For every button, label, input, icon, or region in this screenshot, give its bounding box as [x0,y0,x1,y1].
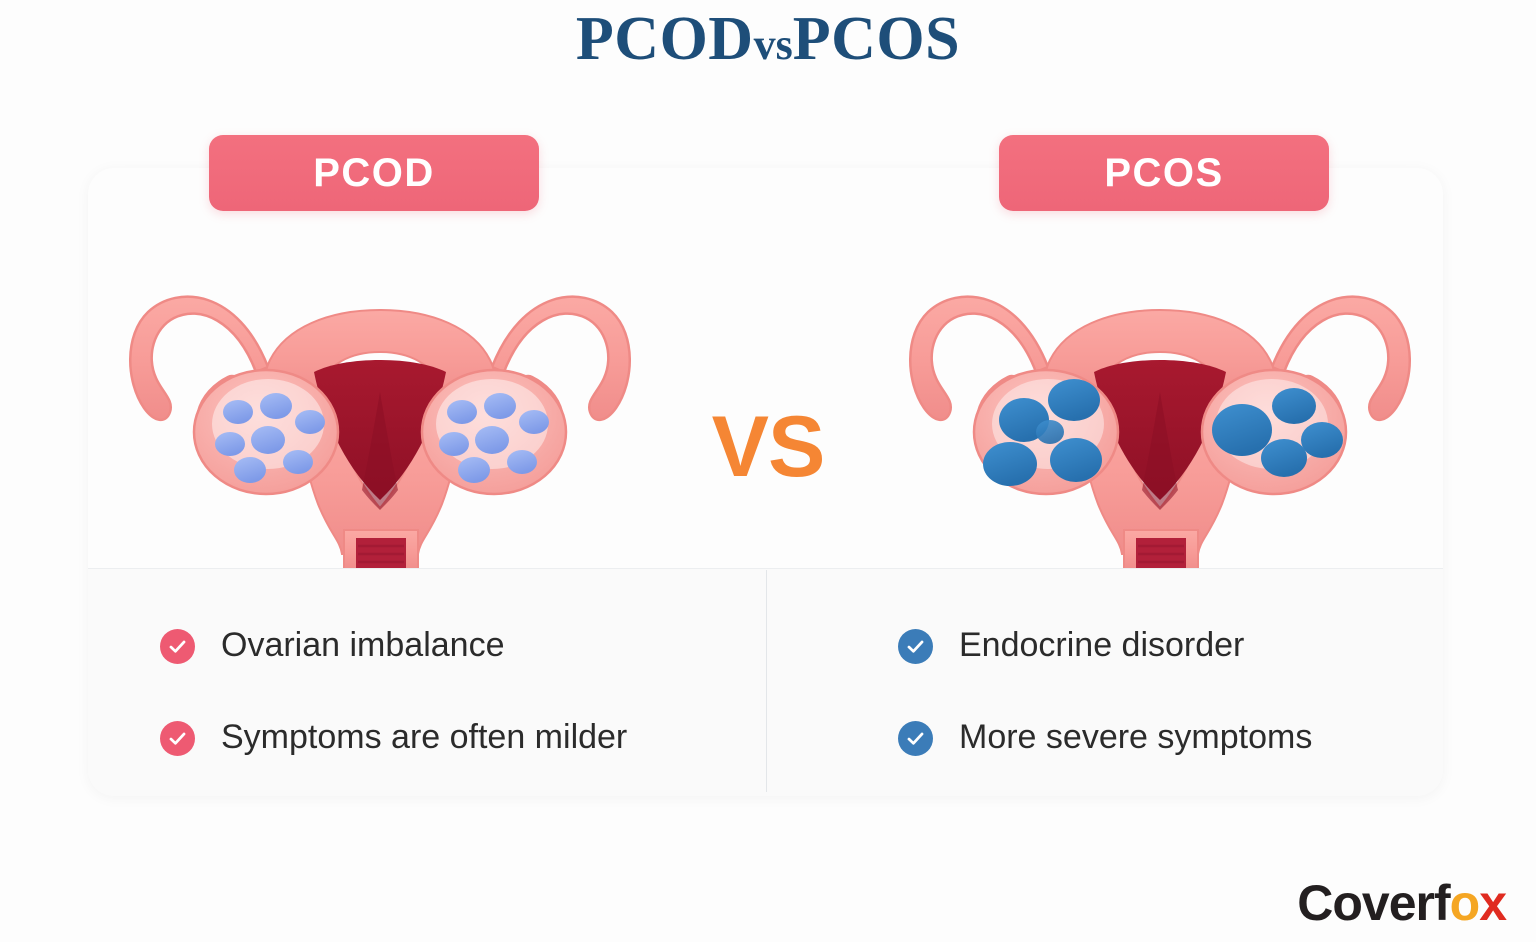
cyst [283,450,313,474]
cyst [251,426,285,454]
cyst [223,400,253,424]
check-icon [160,721,195,756]
cyst [1050,438,1102,482]
cyst [983,442,1037,486]
cyst [234,457,266,483]
badge-pcod: PCOD [209,135,539,211]
page-title-connector: vs [754,20,793,69]
list-item-label: More severe symptoms [959,719,1312,756]
cyst [1212,404,1272,456]
cyst [260,393,292,419]
cyst [475,426,509,454]
ovary-right [422,370,566,494]
list-item-label: Ovarian imbalance [221,627,504,664]
feature-list-pcos: Endocrine disorder More severe symptoms [898,600,1478,784]
cyst [458,457,490,483]
list-item: More severe symptoms [898,692,1478,784]
cyst [519,410,549,434]
logo-text-orange: o [1450,875,1480,931]
check-icon [898,721,933,756]
cyst [507,450,537,474]
check-icon [898,629,933,664]
infographic-canvas: PCODvsPCOS PCOD PCOS [0,0,1536,942]
cyst [1261,439,1307,477]
feature-list-pcod: Ovarian imbalance Symptoms are often mil… [160,600,740,784]
uterus-illustration-pcod [118,272,642,568]
page-title: PCODvsPCOS [0,4,1536,75]
cyst [1036,420,1064,444]
list-item: Ovarian imbalance [160,600,740,692]
cyst [447,400,477,424]
page-title-right: PCOS [793,5,960,73]
list-item-label: Symptoms are often milder [221,719,627,756]
ovary-left [194,370,338,494]
logo-text-red: x [1479,875,1506,931]
versus-label: VS [688,398,848,497]
cyst [439,432,469,456]
ovary-right [1202,370,1346,494]
coverfox-logo: Coverfox [1297,878,1506,928]
cyst [215,432,245,456]
list-item: Symptoms are often milder [160,692,740,784]
list-item-label: Endocrine disorder [959,627,1244,664]
page-title-left: PCOD [576,5,754,73]
uterus-illustration-pcos [898,272,1422,568]
cyst [1272,388,1316,424]
cyst [1048,379,1100,421]
cyst [1301,422,1343,458]
logo-text-dark: Coverf [1297,875,1449,931]
check-icon [160,629,195,664]
cyst [484,393,516,419]
card-vertical-divider [766,570,767,792]
badge-pcos: PCOS [999,135,1329,211]
cyst [295,410,325,434]
ovary-left [974,370,1118,494]
list-item: Endocrine disorder [898,600,1478,692]
card-horizontal-divider [88,568,1443,569]
